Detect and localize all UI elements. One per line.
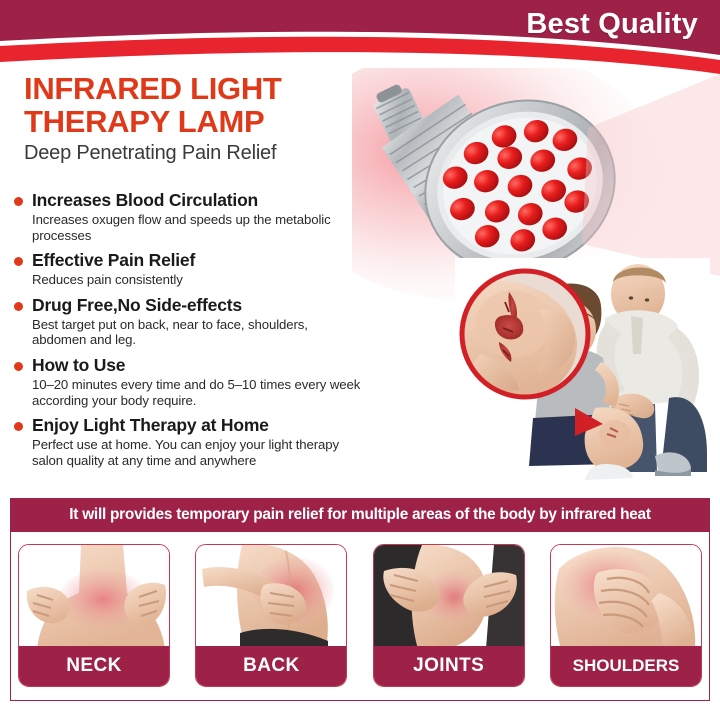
- feature-item: Effective Pain Relief Reduces pain consi…: [10, 250, 365, 288]
- header-banner: Best Quality: [0, 0, 720, 78]
- back-pain-icon: [196, 545, 346, 646]
- feature-item: Increases Blood Circulation Increases ox…: [10, 190, 365, 243]
- page-title-line-2: THERAPY LAMP: [24, 104, 264, 139]
- panel-neck[interactable]: NECK: [18, 544, 170, 687]
- bullet-dot-icon: [14, 422, 23, 431]
- feature-body: Reduces pain consistently: [32, 272, 365, 288]
- page-title-line-1: INFRARED LIGHT: [24, 71, 282, 106]
- treatment-photo: [455, 258, 710, 490]
- neck-pain-icon: [19, 545, 169, 646]
- feature-item: Enjoy Light Therapy at Home Perfect use …: [10, 415, 365, 468]
- feature-heading: Enjoy Light Therapy at Home: [32, 415, 365, 436]
- panel-label-neck: NECK: [19, 646, 169, 686]
- feature-heading: Drug Free,No Side-effects: [32, 295, 365, 316]
- bullet-dot-icon: [14, 302, 23, 311]
- knee-joint-pain-icon: [374, 545, 524, 646]
- man-treating-boy-knee-graphic: [455, 258, 710, 490]
- panel-label-shoulders: SHOULDERS: [551, 646, 701, 686]
- body-area-panels: NECK: [18, 544, 702, 692]
- feature-item: How to Use 10–20 minutes every time and …: [10, 355, 365, 408]
- bullet-dot-icon: [14, 362, 23, 371]
- bottom-banner: It will provides temporary pain relief f…: [10, 498, 710, 532]
- feature-heading: Effective Pain Relief: [32, 250, 365, 271]
- bullet-dot-icon: [14, 257, 23, 266]
- panel-back[interactable]: BACK: [195, 544, 347, 687]
- best-quality-badge: Best Quality: [526, 8, 698, 41]
- feature-body: Increases oxugen flow and speeds up the …: [32, 212, 365, 243]
- panel-shoulders[interactable]: SHOULDERS: [550, 544, 702, 687]
- page-subtitle: Deep Penetrating Pain Relief: [24, 140, 384, 166]
- bullet-dot-icon: [14, 197, 23, 206]
- shoulder-pain-icon: [551, 545, 701, 646]
- panel-label-back: BACK: [196, 646, 346, 686]
- title-block: INFRARED LIGHT THERAPY LAMP Deep Penetra…: [24, 72, 384, 166]
- feature-heading: Increases Blood Circulation: [32, 190, 365, 211]
- feature-body: 10–20 minutes every time and do 5–10 tim…: [32, 377, 365, 408]
- panel-label-joints: JOINTS: [374, 646, 524, 686]
- bottom-banner-text: It will provides temporary pain relief f…: [69, 506, 650, 524]
- panel-joints[interactable]: JOINTS: [373, 544, 525, 687]
- feature-item: Drug Free,No Side-effects Best target pu…: [10, 295, 365, 348]
- feature-body: Perfect use at home. You can enjoy your …: [32, 437, 365, 468]
- feature-body: Best target put on back, near to face, s…: [32, 317, 365, 348]
- feature-heading: How to Use: [32, 355, 365, 376]
- feature-list: Increases Blood Circulation Increases ox…: [10, 190, 365, 475]
- page-title: INFRARED LIGHT THERAPY LAMP: [24, 72, 384, 138]
